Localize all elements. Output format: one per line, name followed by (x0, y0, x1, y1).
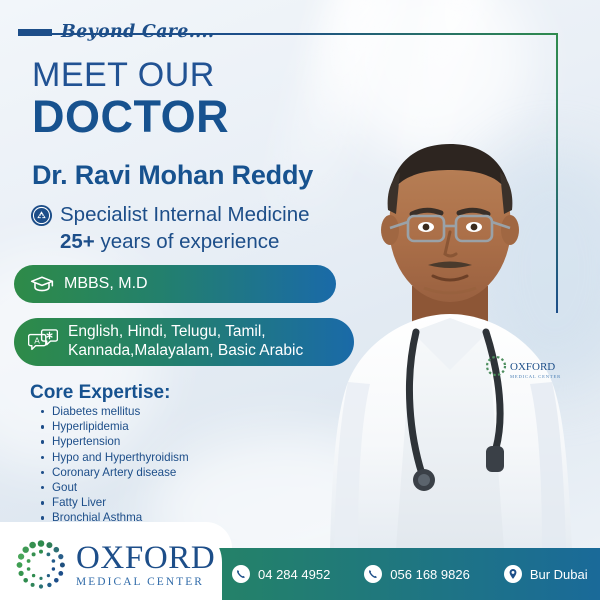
brand-name-primary: OXFORD (76, 542, 215, 575)
brand-tagline: Beyond Care.... (18, 22, 318, 42)
location-pin-icon (504, 565, 522, 583)
svg-text:OXFORD: OXFORD (510, 361, 555, 373)
list-item: Fatty Liver (52, 495, 189, 510)
expertise-list: Diabetes mellitus Hyperlipidemia Hyperte… (36, 404, 189, 526)
phone-icon (232, 565, 250, 583)
list-item: Gout (52, 480, 189, 495)
list-item: Diabetes mellitus (52, 404, 189, 419)
svg-text:A: A (34, 335, 40, 345)
contact-phone-2-value: 056 168 9826 (390, 567, 470, 582)
doctor-name: Dr. Ravi Mohan Reddy (32, 160, 313, 191)
experience-label: years of experience (100, 230, 279, 253)
phone-icon (364, 565, 382, 583)
contact-phone-1[interactable]: 04 284 4952 (232, 565, 330, 583)
languages-badge: A English, Hindi, Telugu, Tamil, Kannada… (14, 318, 354, 366)
footer-contacts: 04 284 4952 056 168 9826 Bur Dubai (232, 548, 588, 600)
brand-name-secondary: MEDICAL CENTER (76, 577, 215, 588)
qualification-badge: MBBS, M.D (14, 265, 336, 303)
brand-wordmark: OXFORD MEDICAL CENTER (76, 542, 215, 588)
medical-badge-icon (30, 204, 53, 227)
oxford-ring-logo-icon (14, 538, 68, 592)
list-item: Hypertension (52, 434, 189, 449)
list-item: Hypo and Hyperthyroidism (52, 450, 189, 465)
doctor-specialty-row: Specialist Internal Medicine (30, 203, 310, 227)
heading-line-2: DOCTOR (32, 94, 229, 139)
doctor-specialty-text: Specialist Internal Medicine (60, 203, 310, 227)
qualification-text: MBBS, M.D (64, 274, 148, 294)
list-item: Coronary Artery disease (52, 465, 189, 480)
expertise-title: Core Expertise: (30, 382, 170, 404)
contact-location[interactable]: Bur Dubai (504, 565, 588, 583)
brand-logo: OXFORD MEDICAL CENTER (14, 538, 215, 592)
experience-years: 25+ (60, 230, 95, 253)
tagline-dash-icon (18, 29, 52, 36)
svg-text:MEDICAL CENTER: MEDICAL CENTER (510, 374, 561, 379)
heading-line-1: MEET OUR (32, 58, 215, 92)
contact-phone-1-value: 04 284 4952 (258, 567, 330, 582)
languages-text: English, Hindi, Telugu, Tamil, Kannada,M… (68, 323, 303, 361)
doctor-experience: 25+ years of experience (60, 230, 279, 254)
graduation-cap-icon (30, 275, 54, 293)
translate-speech-bubbles-icon: A (28, 329, 58, 355)
contact-location-value: Bur Dubai (530, 567, 588, 582)
contact-phone-2[interactable]: 056 168 9826 (364, 565, 470, 583)
list-item: Hyperlipidemia (52, 419, 189, 434)
tagline-text: Beyond Care.... (61, 22, 214, 42)
doctor-profile-poster: Beyond Care.... MEET OUR DOCTOR (0, 0, 600, 600)
